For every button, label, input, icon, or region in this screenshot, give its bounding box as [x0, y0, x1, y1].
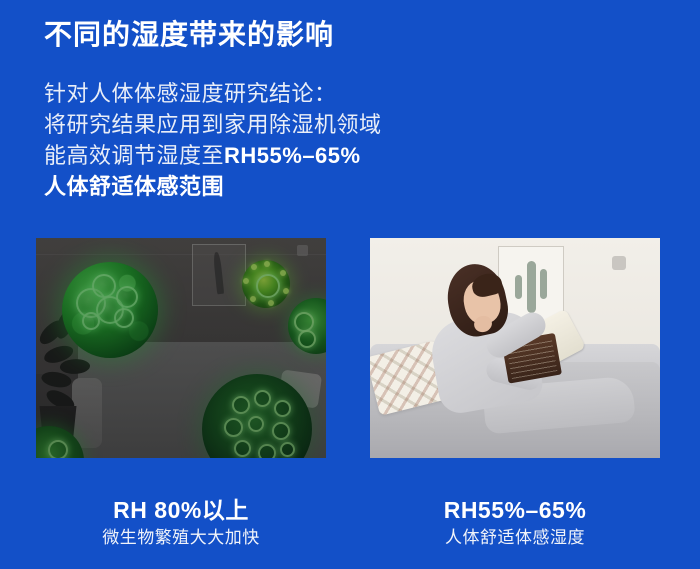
body-line-3: 能高效调节湿度至RH55%–65% — [44, 140, 464, 171]
body-line-4: 人体舒适体感范围 — [44, 171, 464, 202]
body-line-3-prefix: 能高效调节湿度至 — [44, 143, 224, 168]
panel-image-high-humidity — [36, 238, 326, 458]
caption-title-high-humidity: RH 80%以上 — [36, 495, 326, 525]
caption-sub-comfort-humidity: 人体舒适体感湿度 — [370, 525, 660, 551]
page-title: 不同的湿度带来的影响 — [44, 17, 334, 53]
body-copy-block: 针对人体体感湿度研究结论： 将研究结果应用到家用除湿机领域 能高效调节湿度至RH… — [44, 78, 464, 202]
dark-room-scene — [36, 238, 326, 458]
body-line-2: 将研究结果应用到家用除湿机领域 — [44, 109, 464, 140]
humidity-range-highlight: RH55%–65% — [224, 143, 361, 168]
body-line-1: 针对人体体感湿度研究结论： — [44, 78, 464, 109]
panel-image-comfort-humidity — [370, 238, 660, 458]
caption-comfort-humidity: RH55%–65% 人体舒适体感湿度 — [370, 495, 660, 551]
microbe-sphere-large — [62, 262, 158, 358]
caption-high-humidity: RH 80%以上 微生物繁殖大大加快 — [36, 495, 326, 551]
wall-seam-line — [36, 254, 326, 255]
caption-title-comfort-humidity: RH55%–65% — [370, 495, 660, 525]
microbe-sphere-virus — [242, 260, 290, 308]
humidity-infographic-poster: 不同的湿度带来的影响 针对人体体感湿度研究结论： 将研究结果应用到家用除湿机领域… — [0, 0, 700, 569]
bright-room-scene — [370, 238, 660, 458]
woman-reading-figure — [412, 256, 622, 436]
wall-switch-icon — [297, 245, 308, 256]
wall-art-frame-icon — [192, 244, 246, 306]
caption-sub-high-humidity: 微生物繁殖大大加快 — [36, 525, 326, 551]
